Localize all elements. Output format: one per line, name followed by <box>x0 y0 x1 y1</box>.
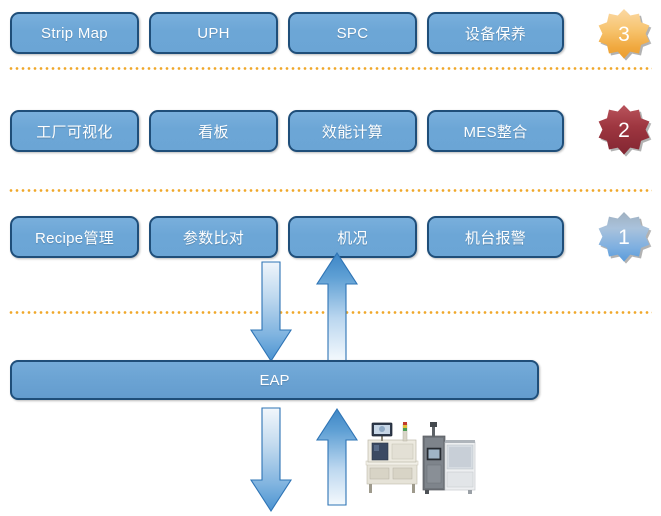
function-button-equipment-maintenance[interactable]: 设备保养 <box>427 12 564 54</box>
arrow-down-to-equipment <box>250 408 292 512</box>
function-button-spc[interactable]: SPC <box>288 12 417 54</box>
function-button-kanban[interactable]: 看板 <box>149 110 278 152</box>
level-3-badge: 3 <box>597 9 651 63</box>
function-button-factory-visualization[interactable]: 工厂可视化 <box>10 110 139 152</box>
function-button-strip-map[interactable]: Strip Map <box>10 12 139 54</box>
divider-dotted-level-3-2 <box>8 67 652 70</box>
level-2-badge: 2 <box>597 105 651 159</box>
function-button-mes-integration[interactable]: MES整合 <box>427 110 564 152</box>
equipment-photo-inspection <box>362 418 422 496</box>
function-button-machine-alarm[interactable]: 机台报警 <box>427 216 564 258</box>
function-button-recipe-management[interactable]: Recipe管理 <box>10 216 139 258</box>
eap-bar[interactable]: EAP <box>10 360 539 400</box>
arrow-up-from-equipment <box>316 408 358 506</box>
function-button-efficiency-calculation[interactable]: 效能计算 <box>288 110 417 152</box>
diagram-canvas: Strip Map UPH SPC 设备保养 3 工厂可视化 看板 效能计算 M… <box>0 0 661 516</box>
function-button-parameter-comparison[interactable]: 参数比对 <box>149 216 278 258</box>
arrow-up-from-eap <box>316 252 358 362</box>
equipment-photo-handler <box>420 418 478 496</box>
level-1-badge: 1 <box>597 212 651 266</box>
arrow-down-to-eap <box>250 262 292 362</box>
divider-dotted-level-2-1 <box>8 189 652 192</box>
function-button-uph[interactable]: UPH <box>149 12 278 54</box>
